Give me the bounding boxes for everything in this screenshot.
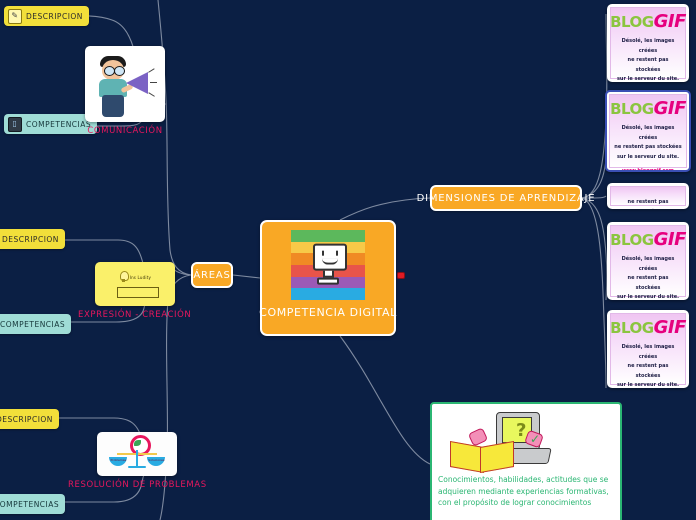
gif-card-message: Désolé, les images créées ne restent pas… bbox=[611, 343, 685, 388]
note-pencil-icon: ✎ bbox=[8, 9, 22, 24]
collapse-marker[interactable] bbox=[397, 272, 405, 279]
bloggif-logo: BLOGGIF bbox=[610, 231, 686, 249]
tag-label: COMPETENCIAS bbox=[0, 320, 65, 329]
central-node-label: COMPETENCIA DIGITAL bbox=[259, 306, 397, 319]
tag-descripcion-2[interactable]: ✎ DESCRIPCION bbox=[0, 229, 65, 249]
branch-node-areas[interactable]: ÁREAS bbox=[191, 262, 233, 288]
tag-label: DESCRIPCION bbox=[0, 415, 53, 424]
computer-book-question-image: ? ✓ bbox=[438, 410, 614, 472]
area-node-resolucion-de-problemas[interactable]: Problemas Soluciones RESOLUCIÓN DE PROBL… bbox=[68, 432, 207, 490]
tag-competencias-1[interactable]: ▯ COMPETENCIAS bbox=[4, 114, 97, 134]
balance-scale-image: Problemas Soluciones bbox=[97, 432, 177, 476]
gif-card-5[interactable]: BLOGGIF Désolé, les images créées ne res… bbox=[607, 310, 689, 388]
gif-card-url: www.blogggif.com bbox=[622, 168, 674, 172]
smiley-monitor-icon bbox=[313, 244, 343, 285]
mobile-device-icon: ▯ bbox=[8, 117, 22, 132]
gif-card-message: Désolé, les images créées ne restent pas… bbox=[611, 37, 685, 82]
central-node-competencia-digital[interactable]: COMPETENCIA DIGITAL bbox=[260, 220, 396, 336]
tag-label: DESCRIPCION bbox=[26, 12, 83, 21]
tag-label: DESCRIPCION bbox=[2, 235, 59, 244]
bloggif-logo: BLOGGIF bbox=[610, 100, 686, 118]
rainbow-monitor-icon bbox=[291, 230, 365, 300]
descripcion-detail-box[interactable]: ? ✓ Conocimientos, habilidades, actitude… bbox=[430, 402, 622, 520]
area-node-expresion-creacion[interactable]: Ins Ludity EXPRESIÓN - CREACIÓN bbox=[78, 262, 191, 320]
gif-card-message: Désolé, les images créées ne restent pas… bbox=[611, 255, 685, 300]
mindmap-canvas: COMPETENCIA DIGITAL ÁREAS DIMENSIONES DE… bbox=[0, 0, 696, 520]
gif-card-2[interactable]: BLOGGIF Désolé, les images créées ne res… bbox=[605, 90, 691, 172]
tag-descripcion-3[interactable]: ✎ DESCRIPCION bbox=[0, 409, 59, 429]
gif-card-message: ne restent pas stockées bbox=[611, 198, 685, 209]
bloggif-logo: BLOGGIF bbox=[610, 13, 686, 31]
gif-card-message: Désolé, les images créées ne restent pas… bbox=[610, 124, 686, 162]
lightbulb-idea-image: Ins Ludity bbox=[95, 262, 175, 306]
descripcion-detail-text: Conocimientos, habilidades, actitudes qu… bbox=[438, 474, 614, 509]
tag-competencias-2[interactable]: ▯ COMPETENCIAS bbox=[0, 314, 71, 334]
man-with-megaphone-image bbox=[85, 46, 165, 122]
area-node-comunicacion[interactable]: COMUNICACIÓN bbox=[85, 46, 165, 136]
branch-node-dimensiones-label: DIMENSIONES DE APRENDIZAJE bbox=[417, 193, 596, 204]
tag-label: COMPETENCIAS bbox=[0, 500, 59, 509]
gif-card-1[interactable]: BLOGGIF Désolé, les images créées ne res… bbox=[607, 4, 689, 82]
tag-label: COMPETENCIAS bbox=[26, 120, 91, 129]
area-node-caption: RESOLUCIÓN DE PROBLEMAS bbox=[68, 480, 207, 490]
area-node-caption: EXPRESIÓN - CREACIÓN bbox=[78, 310, 191, 320]
branch-node-dimensiones[interactable]: DIMENSIONES DE APRENDIZAJE bbox=[430, 185, 582, 211]
gif-card-3-clipped[interactable]: ne restent pas stockées bbox=[607, 183, 689, 209]
branch-node-areas-label: ÁREAS bbox=[193, 270, 230, 281]
tag-competencias-3[interactable]: ▯ COMPETENCIAS bbox=[0, 494, 65, 514]
area-node-caption: COMUNICACIÓN bbox=[87, 126, 162, 136]
tag-descripcion-1[interactable]: ✎ DESCRIPCION bbox=[4, 6, 89, 26]
gif-card-4[interactable]: BLOGGIF Désolé, les images créées ne res… bbox=[607, 222, 689, 300]
bloggif-logo: BLOGGIF bbox=[610, 319, 686, 337]
